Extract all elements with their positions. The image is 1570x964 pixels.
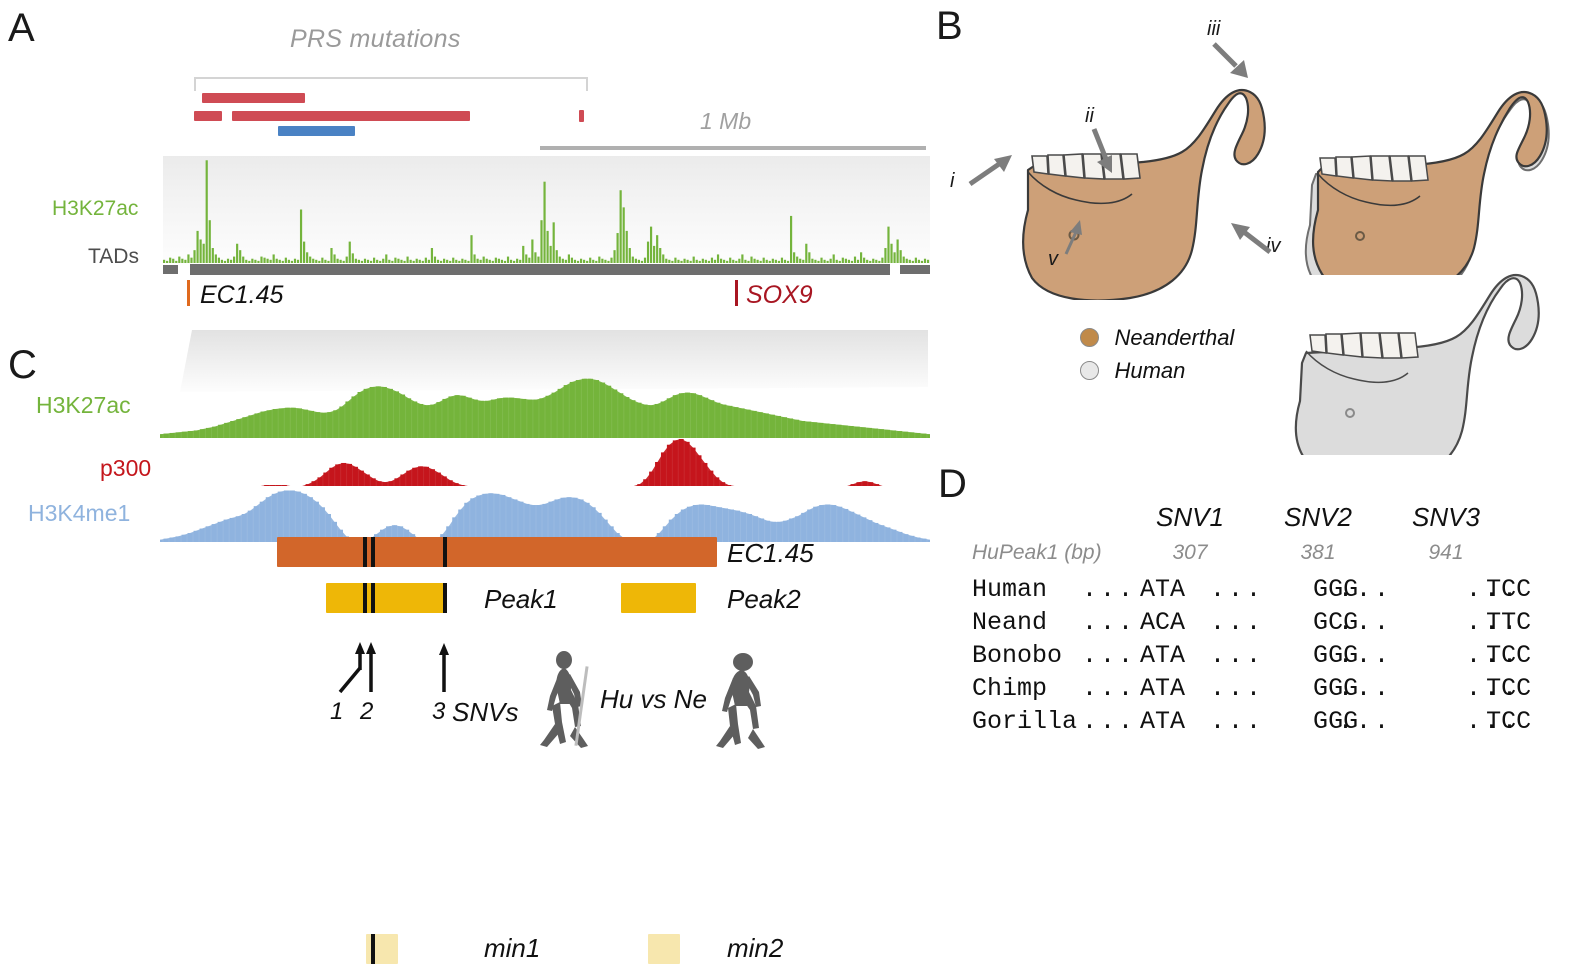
- codon: GGG: [1313, 641, 1358, 670]
- panel-a-letter: A: [8, 8, 35, 48]
- base-letter: C: [1155, 608, 1170, 637]
- annotation-label-i: i: [950, 170, 954, 193]
- codon: ATA: [1140, 674, 1185, 703]
- human-mandible: [1260, 255, 1550, 455]
- feature-label-ec145: EC1.45: [727, 538, 814, 569]
- base-letter: A: [1140, 707, 1155, 736]
- gene-tick-sox9: [735, 280, 738, 306]
- scale-bar-label: 1 Mb: [700, 108, 751, 135]
- mutation-bar-deletion-1: [202, 93, 305, 103]
- legend-item-neanderthal: Neanderthal: [1080, 325, 1234, 351]
- base-letter: T: [1501, 608, 1516, 637]
- snv-header-2: SNV2: [1268, 502, 1368, 533]
- codon: GGG: [1313, 575, 1358, 604]
- base-letter: G: [1343, 575, 1358, 604]
- alignment-ellipsis: ...: [1082, 707, 1136, 736]
- codon: TCC: [1486, 674, 1531, 703]
- alignment-row: Bonobo............ATAGGGTCC: [972, 641, 1570, 674]
- annotation-arrow-iii: [1210, 40, 1260, 86]
- h3k27ac-signal-plot-c: [160, 375, 930, 438]
- snv-header-1: SNV1: [1140, 502, 1240, 533]
- annotation-arrow-i: [964, 150, 1020, 192]
- codon: ATA: [1140, 707, 1185, 736]
- alignment-ellipsis: ...: [1210, 707, 1264, 736]
- base-letter: C: [1501, 674, 1516, 703]
- gene-tick-ec145: [187, 280, 190, 306]
- annotation-arrow-v: [1052, 210, 1092, 258]
- base-letter: C: [1516, 575, 1531, 604]
- mutation-bar-deletion-3: [232, 111, 470, 121]
- base-letter: A: [1170, 575, 1185, 604]
- legend-label-human: Human: [1114, 358, 1185, 383]
- snv-number-2: 2: [360, 698, 373, 726]
- panel-a: A PRS mutations 1 Mb H3K27ac TADs EC1.45…: [0, 0, 950, 330]
- snv-position-1: 307: [1140, 541, 1240, 565]
- base-letter: G: [1328, 575, 1343, 604]
- human-figure-icon: [536, 648, 596, 753]
- prs-bracket: [194, 77, 588, 91]
- base-letter: T: [1486, 575, 1501, 604]
- base-letter: G: [1343, 674, 1358, 703]
- codon: GGG: [1313, 707, 1358, 736]
- legend-item-human: Human: [1080, 358, 1185, 384]
- base-letter: A: [1140, 641, 1155, 670]
- codon: GGG: [1313, 674, 1358, 703]
- base-letter: G: [1328, 707, 1343, 736]
- snv-tick-1-ec145: [363, 537, 367, 567]
- alignment-row: Gorilla............ATAGGGTCC: [972, 707, 1570, 740]
- base-letter: G: [1328, 641, 1343, 670]
- annotation-label-iii: iii: [1207, 18, 1220, 41]
- panel-b: B i ii iii iv v: [930, 0, 1570, 460]
- tad-segment-left: [163, 265, 178, 274]
- comparison-label: Hu vs Ne: [600, 684, 707, 715]
- tad-segment-main: [190, 264, 890, 275]
- snv-tick-3-ec145: [443, 537, 447, 567]
- base-letter: A: [1170, 641, 1185, 670]
- base-letter: G: [1343, 608, 1358, 637]
- feature-label-min2: min2: [727, 933, 783, 964]
- snv-arrows: [320, 640, 480, 700]
- feature-label-peak2: Peak2: [727, 584, 801, 615]
- species-name: Bonobo: [972, 641, 1062, 670]
- species-name: Human: [972, 575, 1047, 604]
- alignment-ellipsis: ...: [1210, 608, 1264, 637]
- alignment-ellipsis: ...: [1082, 575, 1136, 604]
- annotation-arrow-ii: [1082, 125, 1124, 181]
- feature-bar-min2: [648, 934, 680, 964]
- alignment-ellipsis: ...: [1210, 674, 1264, 703]
- mutation-bar-duplication: [278, 126, 355, 136]
- feature-bar-min1: [366, 934, 398, 964]
- base-letter: A: [1170, 674, 1185, 703]
- base-letter: G: [1313, 608, 1328, 637]
- snv-tick-2-peak1: [371, 583, 375, 613]
- codon: GCG: [1313, 608, 1358, 637]
- snv-tick-2-ec145: [371, 537, 375, 567]
- legend-label-neanderthal: Neanderthal: [1114, 325, 1234, 350]
- legend-swatch-neanderthal: [1080, 328, 1099, 347]
- alignment-ellipsis: ...: [1082, 641, 1136, 670]
- panel-d: D SNV1 SNV2 SNV3 HuPeak1 (bp) 307 381 94…: [930, 460, 1570, 741]
- alignment-row: Human............ATAGGGTCC: [972, 575, 1570, 608]
- mutation-bar-deletion-2: [194, 111, 222, 121]
- base-letter: G: [1313, 674, 1328, 703]
- codon: TTC: [1486, 608, 1531, 637]
- neanderthal-figure-icon: [712, 648, 770, 753]
- legend-swatch-human: [1080, 361, 1099, 380]
- track-label-h3k27ac: H3K27ac: [52, 197, 138, 221]
- species-name: Neand: [972, 608, 1047, 637]
- h3k4me1-signal-plot: [160, 486, 930, 542]
- snv-tick-3-peak1: [443, 583, 447, 613]
- base-letter: T: [1486, 674, 1501, 703]
- panel-b-letter: B: [936, 6, 963, 46]
- codon: TCC: [1486, 707, 1531, 736]
- base-letter: T: [1155, 575, 1170, 604]
- snv-number-1: 1: [330, 698, 343, 726]
- panel-d-letter: D: [938, 464, 967, 504]
- prs-mutations-title: PRS mutations: [290, 25, 461, 54]
- codon: TCC: [1486, 575, 1531, 604]
- base-letter: C: [1516, 641, 1531, 670]
- base-letter: A: [1140, 674, 1155, 703]
- base-letter: C: [1501, 707, 1516, 736]
- alignment-row: Chimp............ATAGGGTCC: [972, 674, 1570, 707]
- codon: ATA: [1140, 641, 1185, 670]
- panel-c: C H3K27ac p300 H3K4me1 EC1.45 Peak1 Peak…: [0, 330, 950, 741]
- base-letter: G: [1313, 575, 1328, 604]
- base-letter: C: [1516, 674, 1531, 703]
- base-letter: A: [1140, 608, 1155, 637]
- base-letter: T: [1486, 608, 1501, 637]
- snv-tick-min1: [371, 934, 375, 964]
- hupeak-position-label: HuPeak1 (bp): [972, 541, 1102, 565]
- base-letter: C: [1516, 707, 1531, 736]
- h3k27ac-signal-plot: [163, 156, 930, 263]
- base-letter: G: [1313, 641, 1328, 670]
- track-label-h3k4me1: H3K4me1: [28, 500, 130, 527]
- base-letter: T: [1486, 641, 1501, 670]
- feature-bar-peak1: [326, 583, 446, 613]
- h3k27ac-track-background: [163, 156, 930, 263]
- mutation-bar-point: [579, 110, 584, 122]
- base-letter: C: [1501, 641, 1516, 670]
- codon: ACA: [1140, 608, 1185, 637]
- base-letter: C: [1328, 608, 1343, 637]
- tad-segment-right: [900, 265, 930, 274]
- base-letter: C: [1516, 608, 1531, 637]
- feature-bar-ec145: [277, 537, 717, 567]
- alignment-ellipsis: ...: [1210, 641, 1264, 670]
- species-name: Gorilla: [972, 707, 1077, 736]
- base-letter: T: [1155, 707, 1170, 736]
- alignment-ellipsis: ...: [1082, 608, 1136, 637]
- snv-position-3: 941: [1396, 541, 1496, 565]
- alignment-ellipsis: ...: [1210, 575, 1264, 604]
- scale-bar-rule: [540, 146, 926, 150]
- base-letter: T: [1155, 674, 1170, 703]
- base-letter: G: [1328, 674, 1343, 703]
- codon: ATA: [1140, 575, 1185, 604]
- base-letter: T: [1486, 707, 1501, 736]
- alignment-row: Neand............ACAGCGTTC: [972, 608, 1570, 641]
- base-letter: G: [1343, 707, 1358, 736]
- snv-number-3: 3: [432, 698, 445, 726]
- gene-label-sox9: SOX9: [746, 281, 813, 310]
- base-letter: C: [1501, 575, 1516, 604]
- snv-caption: SNVs: [452, 697, 518, 728]
- p300-signal-plot: [160, 438, 930, 486]
- feature-label-min1: min1: [484, 933, 540, 964]
- base-letter: A: [1140, 575, 1155, 604]
- base-letter: A: [1170, 707, 1185, 736]
- track-label-h3k27ac-c: H3K27ac: [36, 392, 131, 419]
- base-letter: T: [1155, 641, 1170, 670]
- track-label-p300: p300: [100, 455, 151, 482]
- snv-header-3: SNV3: [1396, 502, 1496, 533]
- track-label-tads: TADs: [88, 245, 139, 269]
- codon: TCC: [1486, 641, 1531, 670]
- base-letter: G: [1343, 641, 1358, 670]
- alignment-ellipsis: ...: [1082, 674, 1136, 703]
- base-letter: A: [1170, 608, 1185, 637]
- gene-label-ec145: EC1.45: [200, 281, 283, 310]
- feature-bar-peak2: [621, 583, 696, 613]
- superimposed-mandibles: [1260, 60, 1560, 275]
- feature-label-peak1: Peak1: [484, 584, 558, 615]
- species-name: Chimp: [972, 674, 1047, 703]
- snv-tick-1-peak1: [363, 583, 367, 613]
- snv-position-2: 381: [1268, 541, 1368, 565]
- base-letter: G: [1313, 707, 1328, 736]
